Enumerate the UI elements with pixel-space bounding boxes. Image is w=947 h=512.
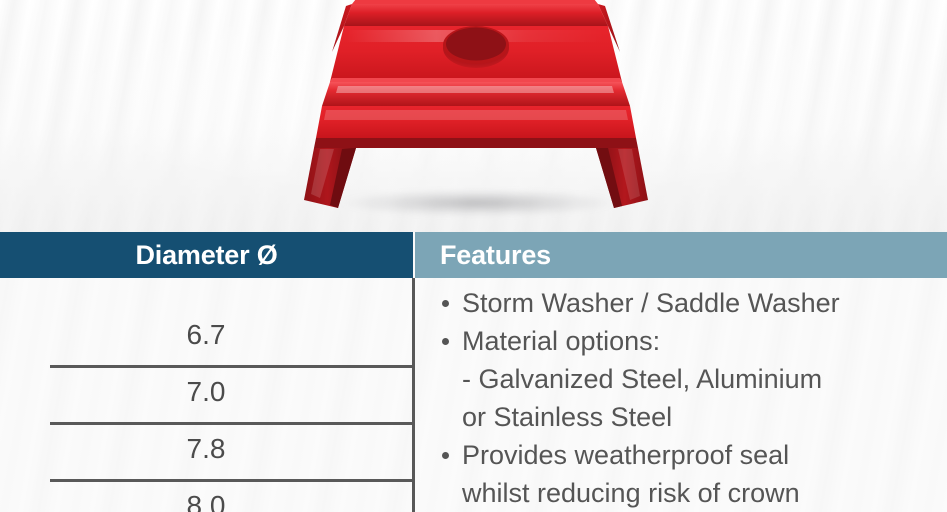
table-row: 7.8 <box>0 420 412 477</box>
list-item-label: Provides weatherproof seal <box>462 440 789 470</box>
list-item-continuation: whilst reducing risk of crown <box>440 474 947 512</box>
table-row: 7.0 <box>0 363 412 420</box>
bullet-icon <box>442 300 449 307</box>
spec-table: Diameter Ø Features 6.7 7.0 7.8 8.0 Stor… <box>0 232 947 512</box>
table-row: 8.0 <box>0 477 412 512</box>
bullet-icon <box>442 338 449 345</box>
list-item-continuation: - Galvanized Steel, Aluminium <box>440 360 947 398</box>
product-spec-panel: Diameter Ø Features 6.7 7.0 7.8 8.0 Stor… <box>0 0 947 512</box>
list-item-continuation: or Stainless Steel <box>440 398 947 436</box>
bullet-icon <box>442 452 449 459</box>
table-row: 6.7 <box>0 306 412 363</box>
column-header-diameter: Diameter Ø <box>0 232 413 278</box>
list-item: Storm Washer / Saddle Washer <box>440 284 947 322</box>
column-header-features: Features <box>415 232 947 278</box>
list-item-label: Material options: <box>462 326 660 356</box>
list-item-label: Storm Washer / Saddle Washer <box>462 288 840 318</box>
red-storm-saddle-washer-image <box>300 0 650 211</box>
features-column: Storm Washer / Saddle Washer Material op… <box>415 278 947 512</box>
list-item: Material options: <box>440 322 947 360</box>
diameter-column: 6.7 7.0 7.8 8.0 <box>0 278 412 512</box>
table-header-row: Diameter Ø Features <box>0 232 947 278</box>
product-image-area <box>0 0 947 232</box>
list-item: Provides weatherproof seal <box>440 436 947 474</box>
